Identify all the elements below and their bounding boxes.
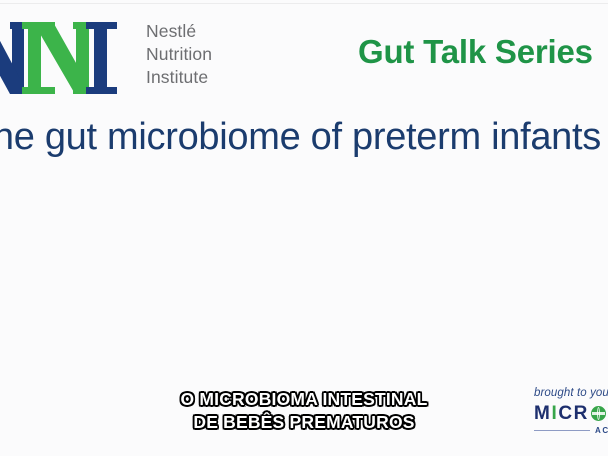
subtitle-line-1: O MICROBIOMA INTESTINAL bbox=[0, 388, 608, 411]
frame-top-divider bbox=[0, 3, 608, 4]
nni-wordmark-line-1: Nestlé bbox=[146, 20, 266, 43]
nni-wordmark: Nestlé Nutrition Institute bbox=[146, 20, 266, 88]
nni-monogram-icon bbox=[0, 16, 138, 100]
microbiome-academy-wordmark: M I CR bbox=[534, 404, 608, 423]
video-frame: Nestlé Nutrition Institute Gut Talk Seri… bbox=[0, 0, 608, 456]
sponsor-wordmark-part-1: M bbox=[534, 404, 551, 423]
nni-wordmark-line-2: Nutrition bbox=[146, 43, 266, 66]
nestle-nutrition-institute-logo: Nestlé Nutrition Institute bbox=[0, 16, 266, 102]
sponsor-rule-row: ACADEMY bbox=[534, 426, 608, 435]
sponsor-logo-group: brought to you by M I CR ACADEMY bbox=[534, 387, 608, 453]
sponsor-sub-label: ACADEMY bbox=[595, 426, 608, 435]
sponsor-divider bbox=[534, 430, 590, 432]
series-title: Gut Talk Series bbox=[358, 33, 593, 71]
sponsor-wordmark-part-2: I bbox=[551, 404, 558, 423]
subtitle-line-2: DE BEBÊS PREMATUROS bbox=[0, 411, 608, 434]
globe-icon bbox=[591, 406, 606, 421]
sponsor-pretext: brought to you by bbox=[534, 387, 608, 399]
slide-headline: The gut microbiome of preterm infants bbox=[0, 116, 601, 159]
sponsor-wordmark-part-3: CR bbox=[558, 404, 589, 423]
burned-in-subtitle: O MICROBIOMA INTESTINAL DE BEBÊS PREMATU… bbox=[0, 388, 608, 434]
nni-wordmark-line-3: Institute bbox=[146, 66, 266, 89]
